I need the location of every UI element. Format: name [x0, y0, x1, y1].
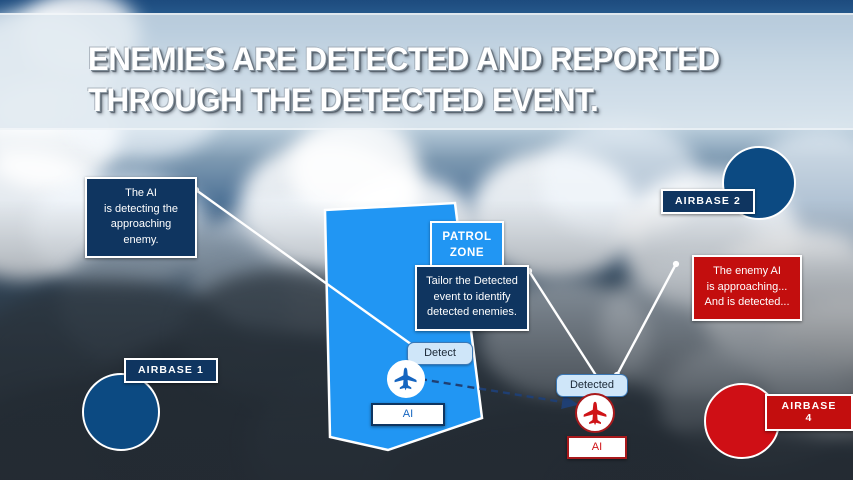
callout-ai-detecting: The AI is detecting the approaching enem…: [85, 177, 197, 258]
event-pill-detect[interactable]: Detect: [407, 342, 473, 365]
airbase-1-marker[interactable]: [82, 373, 160, 451]
friendly-ai-jet-icon[interactable]: [387, 360, 425, 398]
leader-line-tailor: [529, 271, 597, 377]
airbase-1-label: AIRBASE 1: [124, 358, 218, 383]
page-title: ENEMIES ARE DETECTED AND REPORTED THROUG…: [88, 39, 806, 121]
airbase-2-label: AIRBASE 2: [661, 189, 755, 214]
slide-canvas: ENEMIES ARE DETECTED AND REPORTED THROUG…: [0, 0, 853, 480]
leader-line-enemy-ai: [617, 264, 676, 375]
callout-enemy-ai: The enemy AI is approaching... And is de…: [692, 255, 802, 321]
airbase-4-label: AIRBASE 4: [765, 394, 853, 431]
title-banner: ENEMIES ARE DETECTED AND REPORTED THROUG…: [0, 13, 853, 130]
friendly-ai-name-plate: AI: [371, 403, 445, 426]
enemy-ai-name-plate: AI: [567, 436, 627, 459]
enemy-ai-jet-icon[interactable]: [575, 393, 615, 433]
callout-tailor-event: Tailor the Detected event to identify de…: [415, 265, 529, 331]
